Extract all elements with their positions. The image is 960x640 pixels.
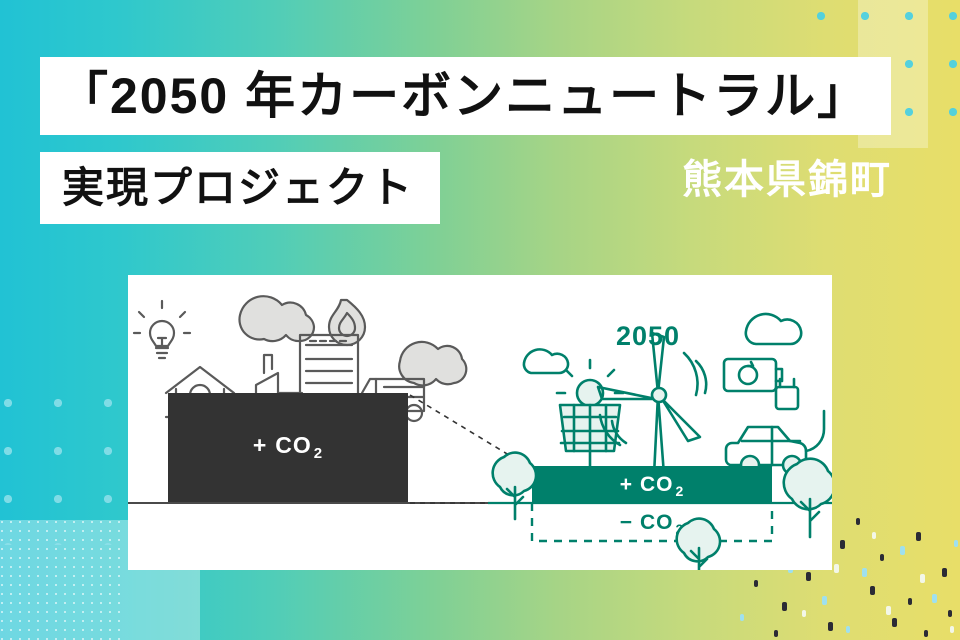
future-co2-minus-label: −CO2 [620,511,685,537]
illustration-svg: .gs{fill:none;stroke:#5a5a5a;stroke-widt… [128,275,832,570]
present-co2-text: CO [275,432,312,458]
tree-icon [677,519,720,570]
future-co2-subscript: 2 [675,483,684,499]
title-line-1-text: 「2050 年カーボンニュートラル」 [58,71,869,121]
future-co2-text: CO [640,473,674,496]
tree-icon [784,459,832,537]
lightbulb-icon [134,301,190,358]
region-name: 熊本県錦町 [682,160,892,200]
poster-root: 「2050 年カーボンニュートラル」 実現プロジェクト 熊本県錦町 .gs{fi… [0,0,960,640]
cloud-icon [746,314,801,344]
present-co2-plus: + [253,432,267,458]
flame-icon [329,300,365,345]
title-line-2-text: 実現プロジェクト [62,167,414,209]
illustration-card: .gs{fill:none;stroke:#5a5a5a;stroke-widt… [128,275,832,570]
cloud-icon [524,349,568,373]
future-minus-co2-text: CO [640,511,674,534]
future-co2-plus: + [620,473,633,496]
present-co2-subscript: 2 [314,445,323,462]
battery-recycle-icon [724,359,782,391]
title-line-1: 「2050 年カーボンニュートラル」 [40,57,891,135]
year-2050-label: 2050 [616,321,680,351]
decorative-micro-dots-bottom-left [0,520,120,640]
tree-icon [493,453,536,519]
future-co2-minus: − [620,511,633,534]
title-line-2: 実現プロジェクト [40,152,440,224]
solar-panel-icon [548,360,632,475]
